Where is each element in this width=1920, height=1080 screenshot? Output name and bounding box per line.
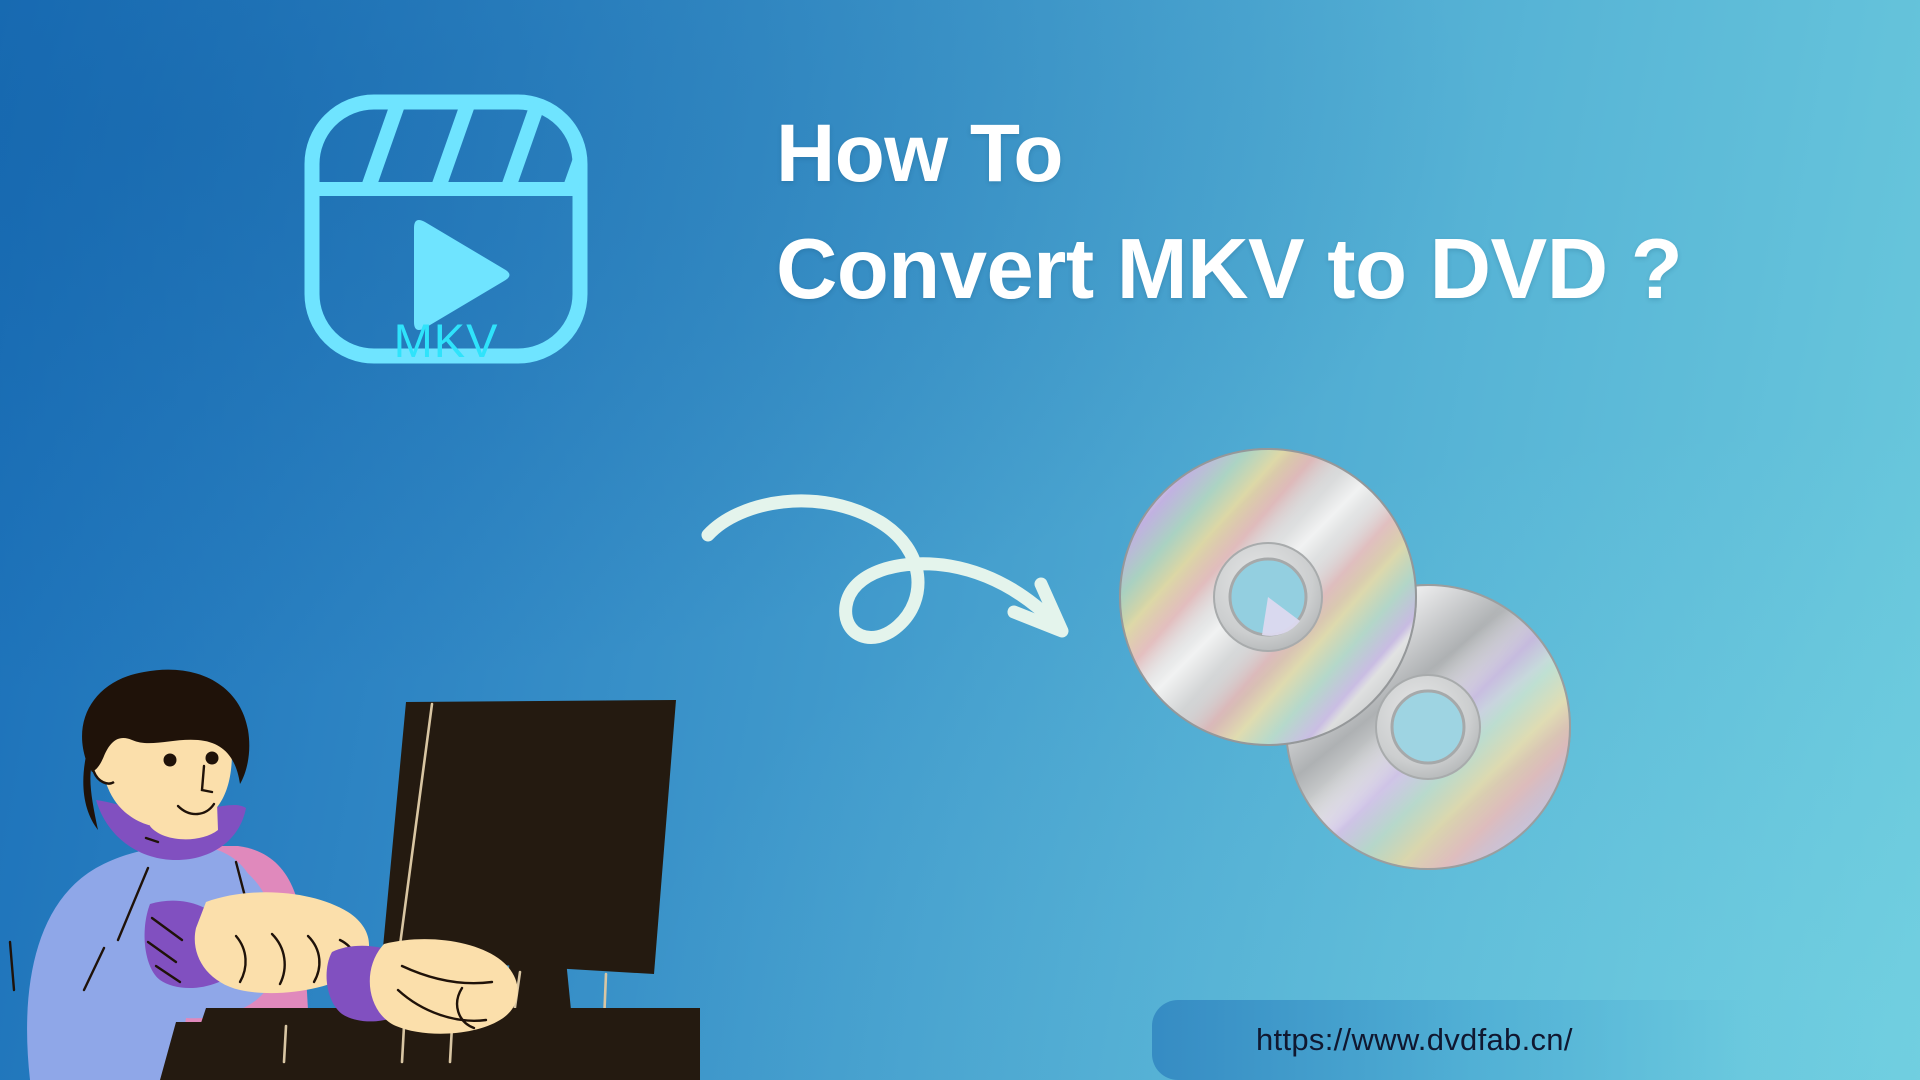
person-at-computer-illustration (0, 690, 720, 1080)
dvd-discs-graphic (1110, 445, 1620, 885)
headline-line-1: How To (776, 108, 1682, 200)
eye-right (206, 752, 219, 765)
curved-looping-arrow-icon (700, 480, 1100, 680)
mkv-icon-label: MKV (298, 317, 594, 364)
mkv-video-file-icon: MKV (298, 88, 594, 370)
page-title: How To Convert MKV to DVD ? (776, 108, 1682, 317)
url-banner[interactable]: https://www.dvdfab.cn/ (1152, 1000, 1920, 1080)
headline-line-2: Convert MKV to DVD ? (776, 222, 1682, 317)
poster-canvas: MKV How To Convert MKV to DVD ? (0, 0, 1920, 1080)
website-url: https://www.dvdfab.cn/ (1256, 1022, 1573, 1058)
dvd-disc-front (1119, 448, 1417, 746)
eye-left (164, 754, 177, 767)
